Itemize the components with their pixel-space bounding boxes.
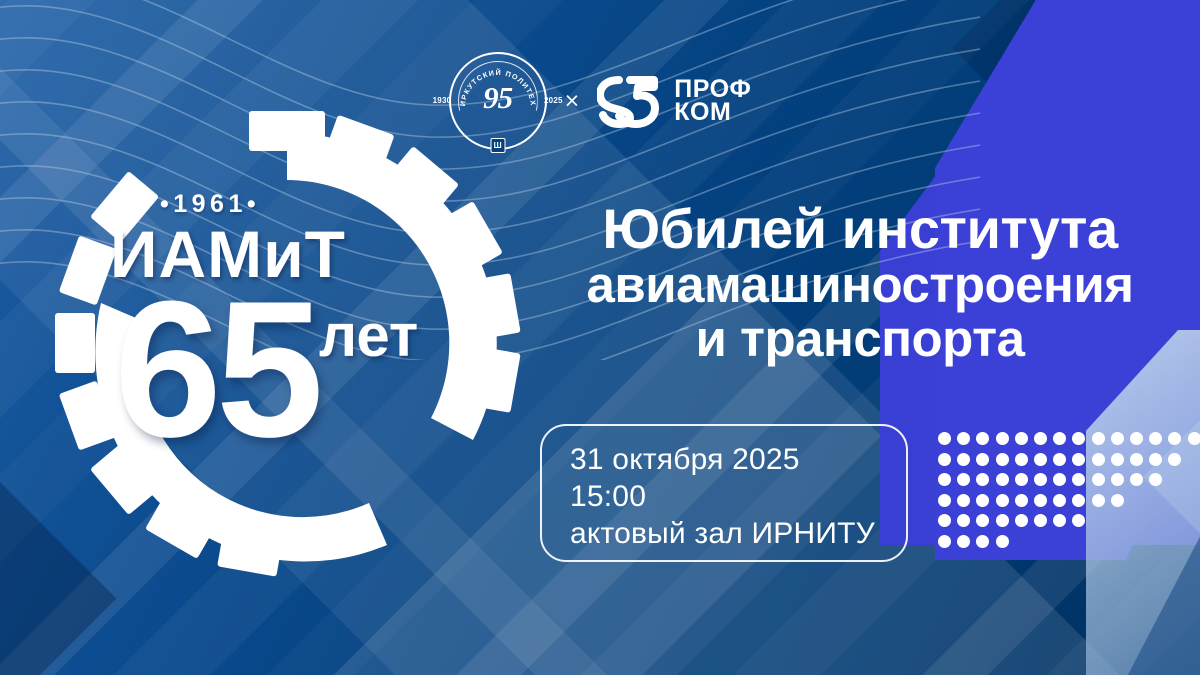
- page-title: Юбилей института авиамашиностроения и тр…: [530, 200, 1190, 366]
- grid-dot: [1092, 432, 1105, 445]
- grid-dot: [1053, 514, 1066, 527]
- grid-dot: [1015, 494, 1028, 507]
- grid-dot: [938, 494, 951, 507]
- grid-dot: [1072, 473, 1085, 486]
- grid-dot: [976, 453, 989, 466]
- emblem-year-founded: •1961•: [160, 190, 260, 219]
- polytech-number: 95: [449, 82, 547, 113]
- logo-separator-x: ×: [565, 89, 580, 114]
- event-date: 31 октября 2025: [570, 442, 882, 479]
- polytech-logo: ИРКУТСКИЙ ПОЛИТЕХ 1930 2025 95 Ш: [449, 52, 547, 150]
- grid-dot: [938, 432, 951, 445]
- grid-dot: [1072, 432, 1085, 445]
- grid-dot: [957, 473, 970, 486]
- grid-dot: [1092, 473, 1105, 486]
- grid-dot: [1015, 453, 1028, 466]
- grid-dot: [957, 453, 970, 466]
- grid-dot: [1053, 494, 1066, 507]
- grid-dot: [1072, 494, 1085, 507]
- grid-dot: [1130, 473, 1143, 486]
- grid-dot: [1149, 453, 1162, 466]
- grid-dot: [938, 514, 951, 527]
- grid-dot: [1111, 494, 1124, 507]
- grid-dot: [1015, 473, 1028, 486]
- grid-dot: [1053, 473, 1066, 486]
- grid-dot: [976, 432, 989, 445]
- grid-dot: [1130, 432, 1143, 445]
- grid-dot: [1015, 514, 1028, 527]
- dot-grid-decoration: [938, 432, 1200, 562]
- grid-dot: [938, 535, 951, 548]
- grid-dot: [1111, 432, 1124, 445]
- polytech-badge: Ш: [490, 138, 505, 153]
- grid-dot: [1034, 453, 1047, 466]
- grid-dot: [1111, 453, 1124, 466]
- grid-dot: [976, 535, 989, 548]
- grid-dot: [938, 473, 951, 486]
- grid-dot: [1015, 432, 1028, 445]
- grid-dot: [996, 432, 1009, 445]
- grid-dot: [957, 432, 970, 445]
- headline-line-3: и транспорта: [530, 312, 1190, 366]
- polytech-year-to: 2025: [544, 96, 563, 105]
- event-time: 15:00: [570, 479, 882, 516]
- grid-dot: [1149, 473, 1162, 486]
- grid-dot: [996, 514, 1009, 527]
- grid-dot: [996, 535, 1009, 548]
- event-venue: актовый зал ИРНИТУ: [570, 516, 882, 553]
- grid-dot: [1053, 432, 1066, 445]
- grid-dot: [976, 514, 989, 527]
- event-details-box: 31 октября 2025 15:00 актовый зал ИРНИТУ: [540, 424, 908, 562]
- grid-dot: [996, 494, 1009, 507]
- grid-dot: [1034, 514, 1047, 527]
- grid-dot: [996, 453, 1009, 466]
- grid-dot: [1092, 453, 1105, 466]
- grid-dot: [1168, 432, 1181, 445]
- grid-dot: [957, 494, 970, 507]
- grid-dot: [1130, 453, 1143, 466]
- headline-line-1: Юбилей института: [530, 200, 1190, 258]
- grid-dot: [976, 473, 989, 486]
- headline-line-2: авиамашиностроения: [530, 258, 1190, 312]
- grid-dot: [996, 473, 1009, 486]
- emblem-anniversary-word: лет: [319, 301, 418, 370]
- grid-dot: [1111, 473, 1124, 486]
- grid-dot: [976, 494, 989, 507]
- grid-dot: [1034, 432, 1047, 445]
- grid-dot: [1188, 432, 1200, 445]
- emblem-anniversary-number: 65: [114, 273, 318, 467]
- grid-dot: [957, 535, 970, 548]
- grid-dot: [1092, 494, 1105, 507]
- profkom-logo: ПРОФ КОМ: [597, 74, 751, 128]
- grid-dot: [1034, 473, 1047, 486]
- grid-dot: [938, 453, 951, 466]
- grid-dot: [1034, 494, 1047, 507]
- grid-dot: [1072, 514, 1085, 527]
- grid-dot: [1149, 432, 1162, 445]
- profkom-line-2: КОМ: [674, 101, 751, 125]
- grid-dot: [1072, 453, 1085, 466]
- profkom-mark-icon: [597, 74, 663, 128]
- grid-dot: [957, 514, 970, 527]
- grid-dot: [1168, 453, 1181, 466]
- event-poster: ИРКУТСКИЙ ПОЛИТЕХ 1930 2025 95 Ш × ПРОФ …: [0, 0, 1200, 675]
- grid-dot: [1053, 453, 1066, 466]
- partner-logos: ИРКУТСКИЙ ПОЛИТЕХ 1930 2025 95 Ш × ПРОФ …: [0, 52, 1200, 150]
- anniversary-emblem: •1961• ИАМиТ 65 лет: [52, 108, 522, 578]
- profkom-wordmark: ПРОФ КОМ: [674, 78, 751, 125]
